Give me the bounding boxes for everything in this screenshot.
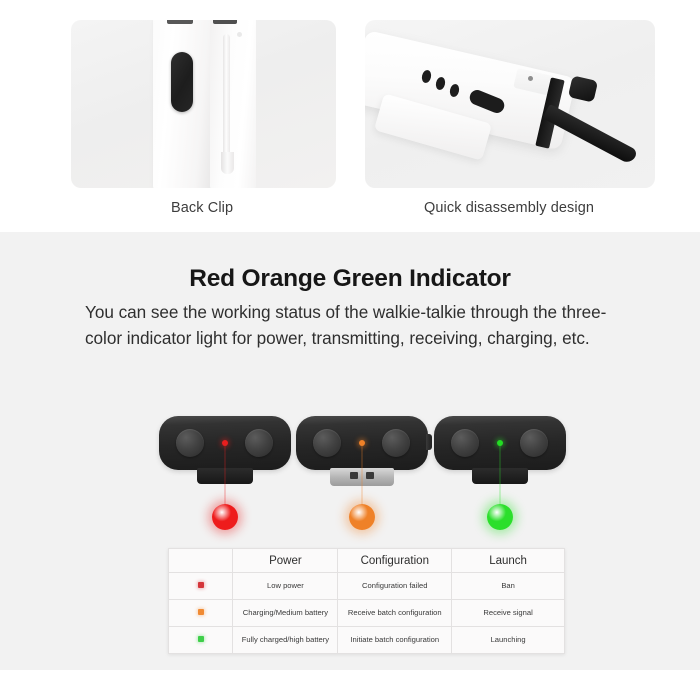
product-photo-section: Back Clip Quick disassembly design [0, 0, 700, 232]
charging-contact-icon [350, 472, 358, 479]
orange-swatch-icon [198, 609, 204, 615]
quick-disassembly-caption: Quick disassembly design [424, 200, 594, 216]
back-clip-photo [71, 20, 336, 188]
indicator-color-dot [487, 504, 513, 530]
table-row: Charging/Medium battery Receive batch co… [169, 600, 565, 627]
indicator-feature-section: Red Orange Green Indicator You can see t… [0, 232, 700, 670]
table-row: Low power Configuration failed Ban [169, 573, 565, 600]
device-green-indicator [434, 412, 566, 542]
led-beam [224, 442, 226, 506]
highlight-dot-icon [237, 32, 242, 37]
back-clip-foot [221, 152, 234, 174]
launch-cell: Receive signal [452, 600, 565, 627]
indicator-swatch-cell [169, 600, 233, 627]
antenna-knob [568, 75, 598, 102]
screw-icon [528, 76, 533, 81]
device-red-indicator [159, 412, 291, 542]
back-clip-arm [223, 34, 230, 164]
indicator-color-dot [349, 504, 375, 530]
channel-knob [382, 429, 410, 457]
indicator-swatch-cell [169, 627, 233, 654]
quick-disassembly-photo [365, 20, 655, 188]
table-row: Fully charged/high battery Initiate batc… [169, 627, 565, 654]
power-cell: Fully charged/high battery [233, 627, 338, 654]
launch-cell: Launching [452, 627, 565, 654]
column-header-power: Power [233, 549, 338, 573]
column-header-indicator [169, 549, 233, 573]
side-button [426, 434, 432, 450]
configuration-cell: Receive batch configuration [338, 600, 452, 627]
column-header-launch: Launch [452, 549, 565, 573]
configuration-cell: Initiate batch configuration [338, 627, 452, 654]
back-clip-caption: Back Clip [171, 200, 233, 216]
launch-cell: Ban [452, 573, 565, 600]
volume-knob [451, 429, 479, 457]
infographic-page: Back Clip Quick disassembly design Red O… [0, 0, 700, 700]
led-beam [499, 442, 501, 506]
device-orange-indicator [296, 412, 428, 542]
green-swatch-icon [198, 636, 204, 642]
top-connector-icon [213, 20, 237, 24]
volume-knob [313, 429, 341, 457]
feature-description: You can see the working status of the wa… [85, 300, 630, 351]
antenna-base-icon [167, 20, 193, 24]
channel-knob [245, 429, 273, 457]
volume-knob [176, 429, 204, 457]
page-title: Red Orange Green Indicator [0, 265, 700, 293]
indicator-color-dot [212, 504, 238, 530]
device-illustration-row [0, 412, 700, 542]
red-swatch-icon [198, 582, 204, 588]
speaker-oval [171, 52, 193, 112]
power-cell: Charging/Medium battery [233, 600, 338, 627]
led-beam [361, 442, 363, 506]
indicator-swatch-cell [169, 573, 233, 600]
channel-knob [520, 429, 548, 457]
column-header-configuration: Configuration [338, 549, 452, 573]
charging-contact-icon [366, 472, 374, 479]
configuration-cell: Configuration failed [338, 573, 452, 600]
indicator-status-table: Power Configuration Launch Low power Con… [168, 548, 565, 654]
table-header-row: Power Configuration Launch [169, 549, 565, 573]
power-cell: Low power [233, 573, 338, 600]
